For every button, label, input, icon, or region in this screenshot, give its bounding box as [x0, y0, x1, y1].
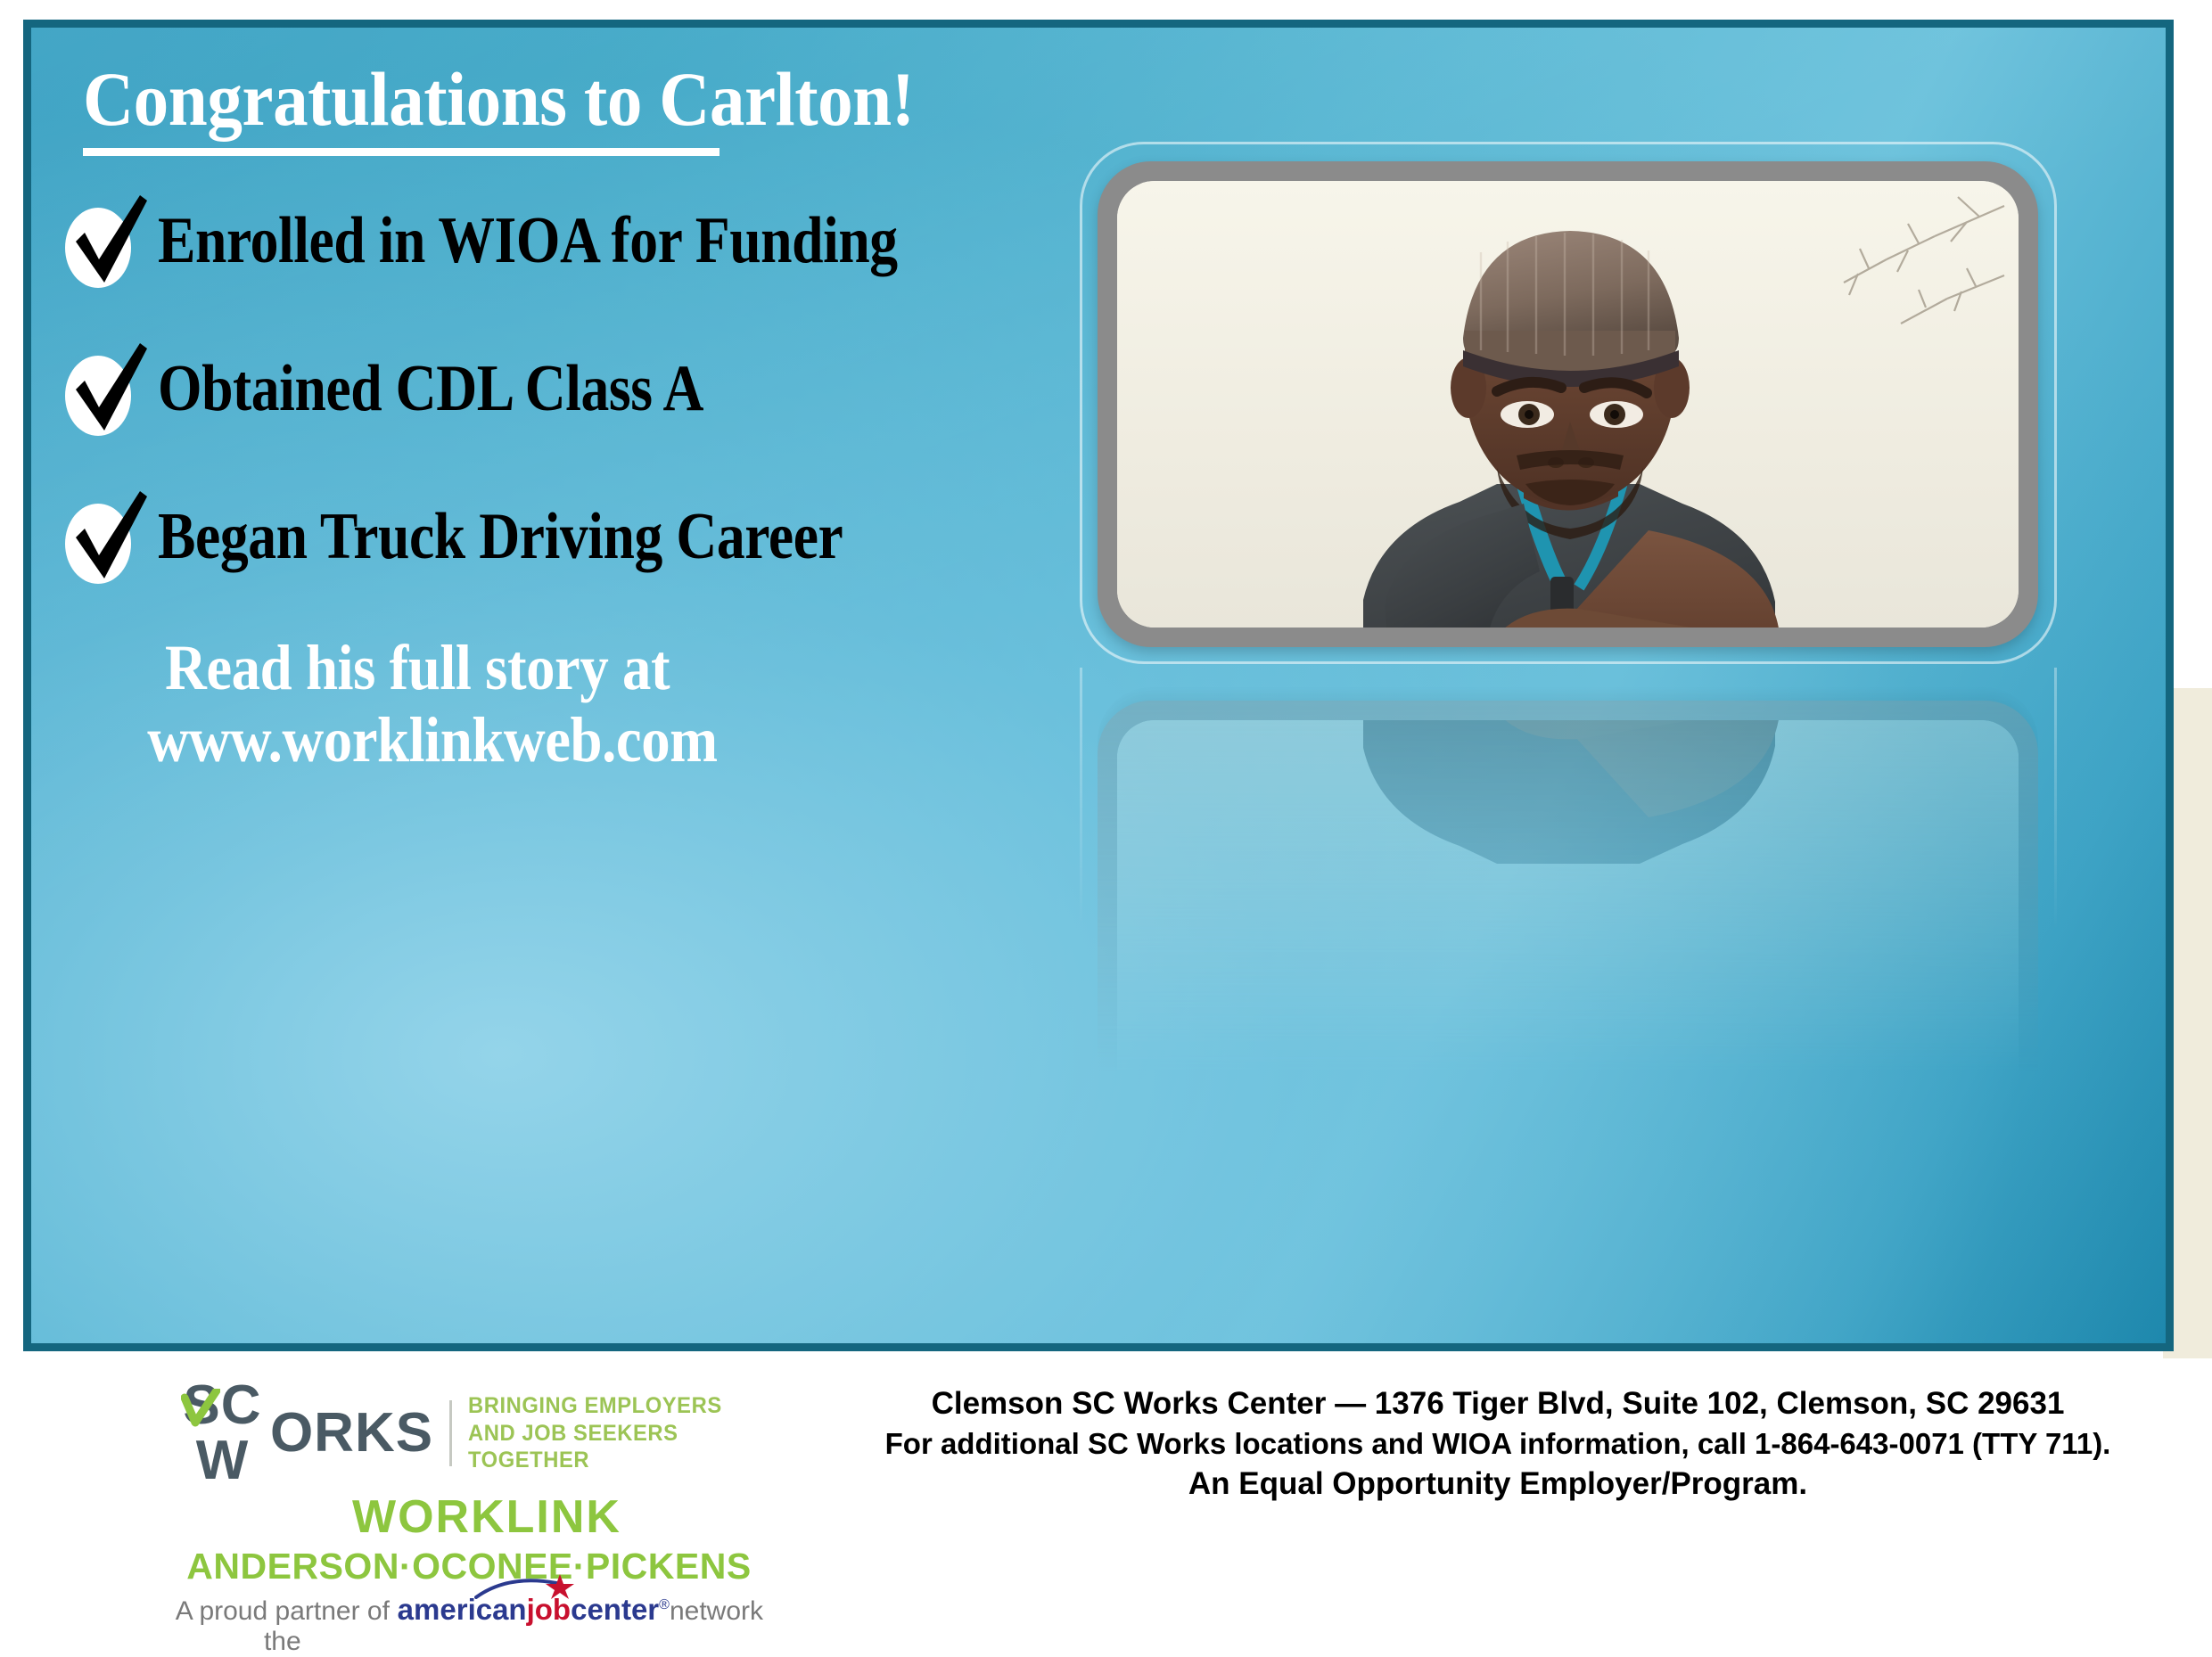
poster-left-column: Congratulations to Carlton! Enrolled in … — [58, 60, 1083, 776]
logo-top-row: SC W ORKS BRINGING EMPLOYERS AND JOB SEE… — [175, 1378, 763, 1489]
achievement-list: Enrolled in WIOA for Funding Obtained CD… — [58, 188, 1083, 591]
sc-works-wordmark-first: SC W — [175, 1378, 270, 1489]
story-callout: Read his full story at www.worklinkweb.c… — [165, 632, 991, 775]
contact-phone-line: For additional SC Works locations and WI… — [856, 1424, 2140, 1464]
portrait-subject — [1229, 217, 1907, 628]
list-item-label: Obtained CDL Class A — [158, 336, 954, 437]
counties-line: ANDERSON·OCONEE·PICKENS — [175, 1546, 763, 1587]
check-icon — [58, 183, 158, 295]
photo-frame — [1098, 161, 2038, 647]
footer: SC W ORKS BRINGING EMPLOYERS AND JOB SEE… — [0, 1358, 2212, 1558]
logo-divider — [449, 1400, 452, 1466]
portrait-photo — [1117, 181, 2019, 628]
logo-tagline: BRINGING EMPLOYERS AND JOB SEEKERS TOGET… — [468, 1392, 749, 1474]
worklink-wordmark: WORKLINK — [210, 1490, 763, 1544]
partner-prefix-text: A proud partner of the — [175, 1596, 391, 1657]
equal-opportunity-line: An Equal Opportunity Employer/Program. — [856, 1464, 2140, 1505]
ajc-center-text: center — [571, 1593, 659, 1626]
sc-works-wordmark-second: ORKS — [270, 1406, 433, 1461]
story-line-1: Read his full story at — [165, 632, 991, 704]
check-mark-glyph — [58, 479, 158, 591]
list-item-label: Began Truck Driving Career — [158, 484, 954, 585]
check-mark-glyph — [58, 331, 158, 443]
check-icon — [58, 479, 158, 591]
page-title: Congratulations to Carlton! — [83, 60, 915, 139]
ajc-swoosh-star-icon — [474, 1572, 580, 1599]
ajc-network-text: network — [670, 1596, 763, 1626]
list-item: Obtained CDL Class A — [58, 336, 1083, 443]
check-mark-glyph — [58, 183, 158, 295]
list-item: Began Truck Driving Career — [58, 484, 1083, 591]
ajc-registered-mark: ® — [659, 1597, 670, 1612]
title-underline — [83, 148, 720, 156]
contact-address-line: Clemson SC Works Center — 1376 Tiger Blv… — [856, 1383, 2140, 1424]
check-icon — [58, 331, 158, 443]
list-item-label: Enrolled in WIOA for Funding — [158, 188, 954, 289]
list-item: Enrolled in WIOA for Funding — [58, 188, 1083, 295]
green-check-accent-icon — [181, 1389, 220, 1430]
photo-reflection-glow — [1080, 668, 2057, 1045]
sc-works-worklink-logo: SC W ORKS BRINGING EMPLOYERS AND JOB SEE… — [175, 1378, 763, 1657]
story-website-url[interactable]: www.worklinkweb.com — [147, 704, 991, 776]
sc-works-wordmark: SC W ORKS — [175, 1378, 433, 1489]
logo-tagline-line-2: AND JOB SEEKERS TOGETHER — [468, 1420, 749, 1474]
logo-tagline-line-1: BRINGING EMPLOYERS — [468, 1392, 749, 1420]
contact-info-block: Clemson SC Works Center — 1376 Tiger Blv… — [856, 1383, 2140, 1505]
american-job-center-line: A proud partner of the americanjobcenter… — [175, 1593, 763, 1657]
portrait-photo-zone — [1080, 142, 2114, 1283]
poster-panel: Congratulations to Carlton! Enrolled in … — [23, 20, 2174, 1351]
american-job-center-logo: americanjobcenter®network — [398, 1593, 763, 1627]
